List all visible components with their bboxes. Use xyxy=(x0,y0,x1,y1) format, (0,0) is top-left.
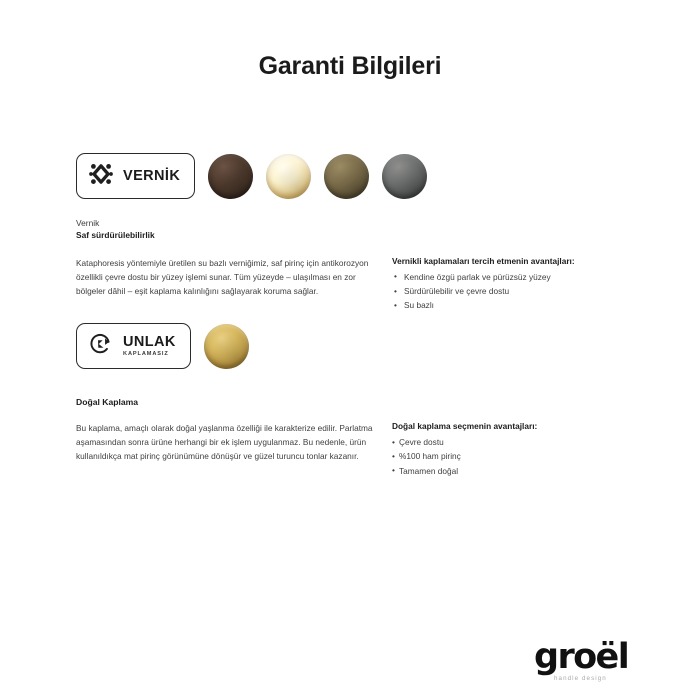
swatch-dark-brown xyxy=(208,154,253,199)
vernik-advantages-column: Vernikli kaplamaları tercih etmenin avan… xyxy=(392,256,624,313)
unlak-heading-strong: Doğal Kaplama xyxy=(76,397,624,407)
unlak-columns: Bu kaplama, amaçlı olarak doğal yaşlanma… xyxy=(76,421,624,478)
vernik-badge-row: VERNİK xyxy=(76,150,624,202)
vernik-heading: Vernik Saf sürdürülebilirlik xyxy=(76,217,624,242)
vernik-heading-strong: Saf sürdürülebilirlik xyxy=(76,229,624,241)
section-unlak: UNLAK KAPLAMASIZ Doğal Kaplama Bu kaplam… xyxy=(76,320,624,478)
brand-logo-wordmark: groël xyxy=(534,641,654,674)
unlak-swatch-group xyxy=(204,324,249,369)
page-title: Garanti Bilgileri xyxy=(0,52,700,81)
swatch-polished-gold xyxy=(266,154,311,199)
list-item: Çevre dostu xyxy=(392,435,624,449)
unlak-text-column: Bu kaplama, amaçlı olarak doğal yaşlanma… xyxy=(76,421,376,478)
unlak-badge-subtitle: KAPLAMASIZ xyxy=(123,352,176,358)
column-spacer xyxy=(376,421,392,478)
vernik-advantages-list: Kendine özgü parlak ve pürüzsüz yüzey Sü… xyxy=(392,270,624,313)
vernik-swatch-group xyxy=(208,154,427,199)
vernik-body-text: Kataphoresis yöntemiyle üretilen su bazl… xyxy=(76,256,376,298)
brand-logo: groël handle design xyxy=(534,641,654,682)
vernik-advantages-title: Vernikli kaplamaları tercih etmenin avan… xyxy=(392,256,624,266)
unlak-badge-title: UNLAK xyxy=(123,335,176,350)
list-item: Tamamen doğal xyxy=(392,464,624,478)
swatch-antique-bronze xyxy=(324,154,369,199)
column-spacer xyxy=(376,256,392,313)
vernik-columns: Kataphoresis yöntemiyle üretilen su bazl… xyxy=(76,256,624,313)
recycle-arrow-icon xyxy=(88,331,114,362)
list-item: Kendine özgü parlak ve pürüzsüz yüzey xyxy=(392,270,624,284)
list-item: %100 ham pirinç xyxy=(392,449,624,463)
section-vernik: VERNİK Vernik Saf sürdürülebilirlik Kata… xyxy=(76,150,624,313)
list-item: Su bazlı xyxy=(392,298,624,312)
vernik-text-column: Kataphoresis yöntemiyle üretilen su bazl… xyxy=(76,256,376,313)
molecule-icon xyxy=(88,161,114,192)
warranty-information-page: Garanti Bilgileri VERNİK xyxy=(0,0,700,700)
swatch-graphite xyxy=(382,154,427,199)
vernik-heading-light: Vernik xyxy=(76,217,624,229)
unlak-advantages-title: Doğal kaplama seçmenin avantajları: xyxy=(392,421,624,431)
vernik-badge: VERNİK xyxy=(76,153,195,199)
unlak-advantages-column: Doğal kaplama seçmenin avantajları: Çevr… xyxy=(392,421,624,478)
vernik-badge-text: VERNİK xyxy=(123,169,180,184)
unlak-body-text: Bu kaplama, amaçlı olarak doğal yaşlanma… xyxy=(76,421,376,463)
unlak-advantages-list: Çevre dostu %100 ham pirinç Tamamen doğa… xyxy=(392,435,624,478)
swatch-raw-brass xyxy=(204,324,249,369)
unlak-badge-text: UNLAK KAPLAMASIZ xyxy=(123,335,176,358)
unlak-badge-row: UNLAK KAPLAMASIZ xyxy=(76,320,624,372)
list-item: Sürdürülebilir ve çevre dostu xyxy=(392,284,624,298)
vernik-badge-title: VERNİK xyxy=(123,169,180,184)
brand-logo-tagline: handle design xyxy=(554,675,654,682)
unlak-badge: UNLAK KAPLAMASIZ xyxy=(76,323,191,369)
